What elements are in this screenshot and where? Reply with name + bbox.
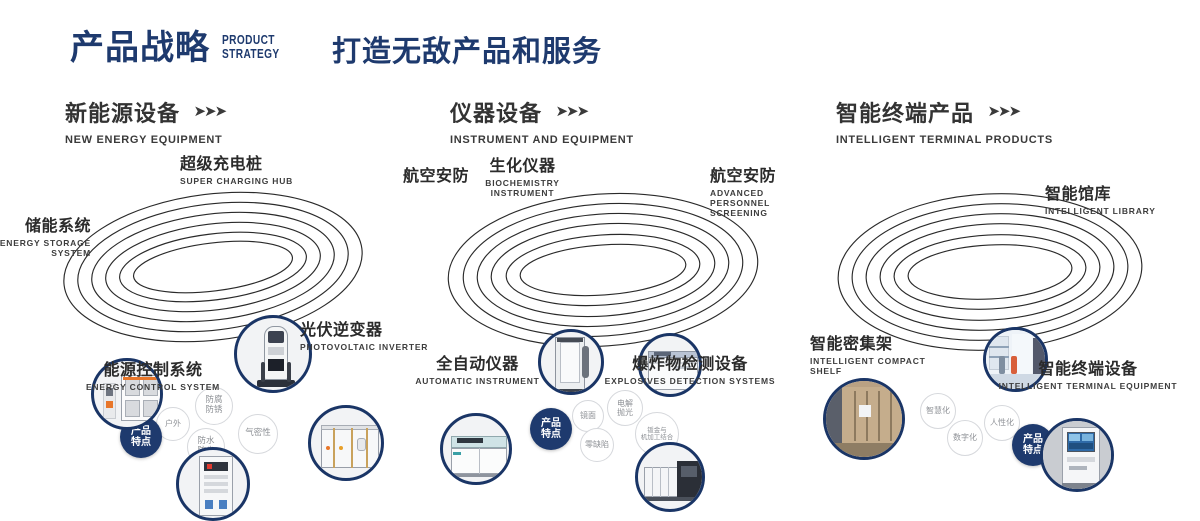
- section-title-zh: 智能终端产品: [836, 96, 974, 128]
- label-en: AUTOMATIC INSTRUMENT: [400, 376, 555, 386]
- chevron-triple-icon: ➤➤➤: [555, 102, 587, 120]
- label-intelligent-terminal-equipment: 智能终端设备 INTELLIGENT TERMINAL EQUIPMENT: [988, 355, 1188, 391]
- node-intelligent-compact-shelf[interactable]: [823, 378, 905, 460]
- control-cabinet-icon: [179, 450, 247, 518]
- node-automatic-instrument[interactable]: [440, 413, 512, 485]
- page-title-english-line2: STRATEGY: [222, 47, 277, 61]
- label-zh: 储能系统: [0, 212, 91, 236]
- page-title: 产品战略: [70, 28, 210, 68]
- label-zh: 超级充电桩: [180, 150, 330, 174]
- label-zh: 全自动仪器: [400, 350, 555, 374]
- label-en: INTELLIGENT LIBRARY: [1045, 206, 1200, 216]
- section-heading-intelligent-terminal: 智能终端产品 ➤➤➤ INTELLIGENT TERMINAL PRODUCTS: [836, 96, 1053, 146]
- feature-bubble-1: 数字化: [947, 420, 983, 456]
- label-en: ENERGY STORAGE SYSTEM: [0, 238, 91, 258]
- section-title-zh: 仪器设备: [450, 96, 542, 128]
- node-energy-control-system[interactable]: [176, 447, 250, 521]
- label-automatic-instrument: 全自动仪器 AUTOMATIC INSTRUMENT: [400, 350, 555, 386]
- auto-analyzer-icon: [443, 416, 509, 482]
- label-biochemistry-instrument: 生化仪器 BIOCHEMISTRY INSTRUMENT: [465, 152, 580, 198]
- label-en: BIOCHEMISTRY INSTRUMENT: [465, 178, 580, 198]
- page-slogan: 打造无敌产品和服务: [332, 33, 602, 69]
- feature-bubble-0: 智慧化: [920, 393, 956, 429]
- chevron-triple-icon: ➤➤➤: [193, 102, 225, 120]
- charging-pile-icon: [237, 318, 309, 390]
- label-en: SUPER CHARGING HUB: [180, 176, 330, 186]
- section-title-en: NEW ENERGY EQUIPMENT: [65, 134, 225, 146]
- feature-bubble-1: 防腐防锈: [195, 387, 233, 425]
- node-explosives-detection-systems[interactable]: [635, 442, 705, 512]
- cluster-new-energy: 户外 防腐防锈 防水防尘 气密性 产品特点: [0, 150, 420, 400]
- label-en: EXPLOSIVES DETECTION SYSTEMS: [595, 376, 785, 386]
- kiosk-terminal-icon: [1043, 421, 1111, 489]
- node-intelligent-terminal-equipment[interactable]: [1040, 418, 1114, 492]
- label-intelligent-library: 智能馆库 INTELLIGENT LIBRARY: [1045, 180, 1200, 216]
- page-header: 产品战略 PRODUCT STRATEGY 打造无敌产品和服务: [0, 0, 1200, 88]
- label-energy-control-system: 能源控制系统 ENERGY CONTROL SYSTEM: [78, 356, 228, 392]
- label-zh: 能源控制系统: [78, 356, 228, 380]
- label-energy-storage-system: 储能系统 ENERGY STORAGE SYSTEM: [0, 212, 91, 258]
- feature-bubble-3: 气密性: [238, 414, 278, 454]
- label-zh: 智能密集架: [810, 330, 930, 354]
- label-intelligent-compact-shelf: 智能密集架 INTELLIGENT COMPACT SHELF: [810, 330, 930, 376]
- label-en: INTELLIGENT TERMINAL EQUIPMENT: [988, 381, 1188, 391]
- core-bubble-product-features: 产品特点: [530, 408, 572, 450]
- cluster-intelligent-terminal: 智慧化 数字化 人性化 产品特点: [800, 150, 1200, 400]
- label-en: INTELLIGENT COMPACT SHELF: [810, 356, 930, 376]
- compact-shelf-icon: [826, 381, 902, 457]
- label-en: ENERGY CONTROL SYSTEM: [78, 382, 228, 392]
- cluster-instrument: 镜面 电解抛光 零缺陷 钣金与机加工结合 产品特点: [395, 150, 815, 400]
- section-heading-instrument: 仪器设备 ➤➤➤ INSTRUMENT AND EQUIPMENT: [450, 96, 634, 146]
- label-zh: 智能终端设备: [988, 355, 1188, 379]
- pv-inverter-icon: [311, 408, 381, 478]
- section-title-zh: 新能源设备: [65, 96, 180, 128]
- node-photovoltaic-inverter[interactable]: [308, 405, 384, 481]
- section-heading-new-energy: 新能源设备 ➤➤➤ NEW ENERGY EQUIPMENT: [65, 96, 225, 146]
- page-title-english-line1: PRODUCT: [222, 33, 277, 47]
- page-title-english: PRODUCT STRATEGY: [222, 33, 277, 61]
- chevron-triple-icon: ➤➤➤: [987, 102, 1019, 120]
- label-zh: 智能馆库: [1045, 180, 1200, 204]
- label-zh: 生化仪器: [465, 152, 580, 176]
- section-title-en: INTELLIGENT TERMINAL PRODUCTS: [836, 134, 1053, 146]
- section-title-en: INSTRUMENT AND EQUIPMENT: [450, 134, 634, 146]
- label-zh: 爆炸物检测设备: [595, 350, 785, 374]
- label-super-charging-hub: 超级充电桩 SUPER CHARGING HUB: [180, 150, 330, 186]
- feature-bubble-1: 电解抛光: [607, 390, 643, 426]
- detection-unit-icon: [638, 445, 702, 509]
- feature-bubble-2: 零缺陷: [580, 428, 614, 462]
- label-explosives-detection-systems: 爆炸物检测设备 EXPLOSIVES DETECTION SYSTEMS: [595, 350, 785, 386]
